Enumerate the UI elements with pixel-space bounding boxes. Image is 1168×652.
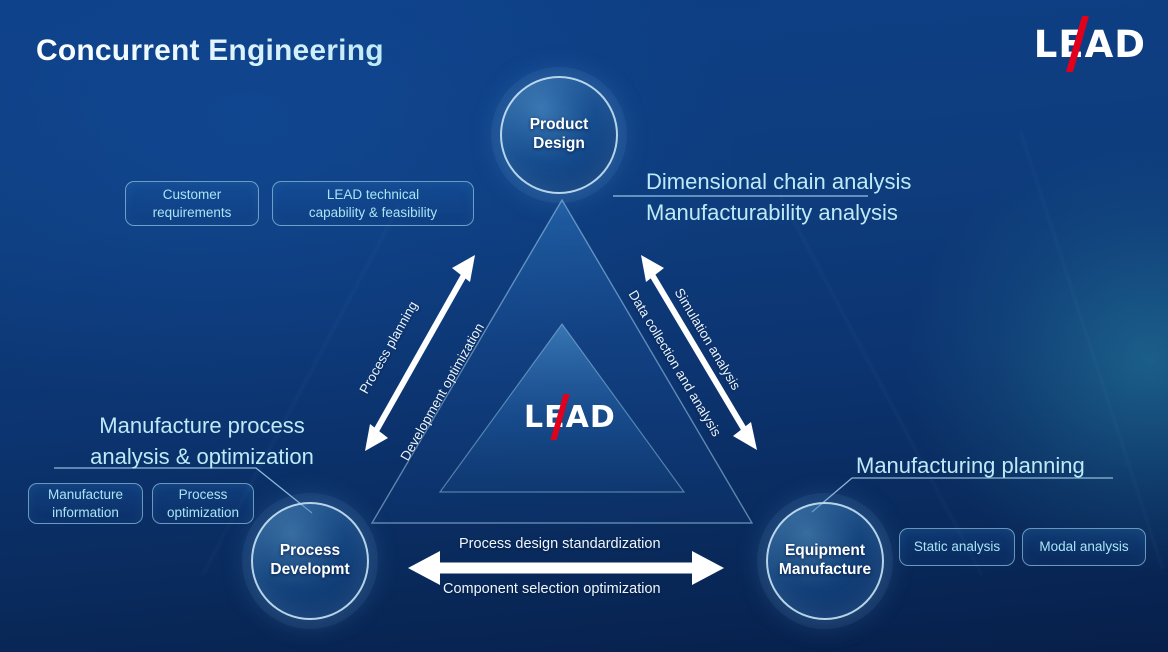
node-product-design-line2: Design — [530, 135, 589, 154]
node-process-development-line2: Developmt — [270, 561, 349, 580]
node-product-design[interactable]: Product Design — [500, 76, 618, 194]
pill-lead-technical-line2: capability & feasibility — [309, 204, 437, 221]
page-title: Concurrent Engineering — [36, 34, 384, 68]
arrow-label-component-selection-optimization: Component selection optimization — [443, 581, 661, 597]
headline-manufacturability-analysis: Manufacturability analysis — [646, 197, 911, 228]
connector-bottomright-headline — [812, 478, 1113, 512]
pill-static-analysis[interactable]: Static analysis — [899, 528, 1015, 566]
headline-manufacturing-planning: Manufacturing planning — [856, 450, 1085, 481]
node-equipment-manufacture-line2: Manufacture — [779, 561, 871, 580]
pill-process-optimization[interactable]: Process optimization — [152, 483, 254, 524]
pill-manufacture-information[interactable]: Manufacture information — [28, 483, 143, 524]
pill-customer-requirements[interactable]: Customer requirements — [125, 181, 259, 226]
background-sheen-3 — [1019, 131, 1164, 569]
headline-manufacture-process-line1: Manufacture process — [52, 410, 352, 441]
pill-static-analysis-label: Static analysis — [914, 538, 1000, 555]
pill-manufacture-information-line2: information — [48, 504, 123, 521]
pill-process-optimization-line2: optimization — [167, 504, 239, 521]
slide-canvas: Concurrent Engineering LEAD LEAD — [0, 0, 1168, 652]
node-product-design-line1: Product — [530, 116, 589, 135]
lead-wordmark-center: LEAD — [524, 400, 616, 435]
node-equipment-manufacture[interactable]: Equipment Manufacture — [766, 502, 884, 620]
pill-lead-technical-line1: LEAD technical — [309, 186, 437, 203]
node-process-development[interactable]: Process Developmt — [251, 502, 369, 620]
pill-lead-technical-capability[interactable]: LEAD technical capability & feasibility — [272, 181, 474, 226]
lead-wordmark: LEAD — [1034, 23, 1146, 66]
lead-logo-header: LEAD — [1034, 26, 1146, 63]
headline-manufacture-process-line2: analysis & optimization — [52, 441, 352, 472]
headline-right: Dimensional chain analysis Manufacturabi… — [646, 166, 911, 228]
headline-left: Manufacture process analysis & optimizat… — [52, 410, 352, 472]
pill-customer-requirements-line2: requirements — [153, 204, 232, 221]
pill-modal-analysis-label: Modal analysis — [1039, 538, 1128, 555]
lead-logo-center: LEAD — [524, 403, 616, 433]
arrow-label-process-design-standardization: Process design standardization — [459, 536, 661, 552]
pill-customer-requirements-line1: Customer — [153, 186, 232, 203]
pill-manufacture-information-line1: Manufacture — [48, 486, 123, 503]
arrow-bottom-horizontal — [408, 551, 724, 585]
node-equipment-manufacture-line1: Equipment — [779, 542, 871, 561]
pill-process-optimization-line1: Process — [167, 486, 239, 503]
headline-dimensional-chain-analysis: Dimensional chain analysis — [646, 166, 911, 197]
pill-modal-analysis[interactable]: Modal analysis — [1022, 528, 1146, 566]
node-process-development-line1: Process — [270, 542, 349, 561]
